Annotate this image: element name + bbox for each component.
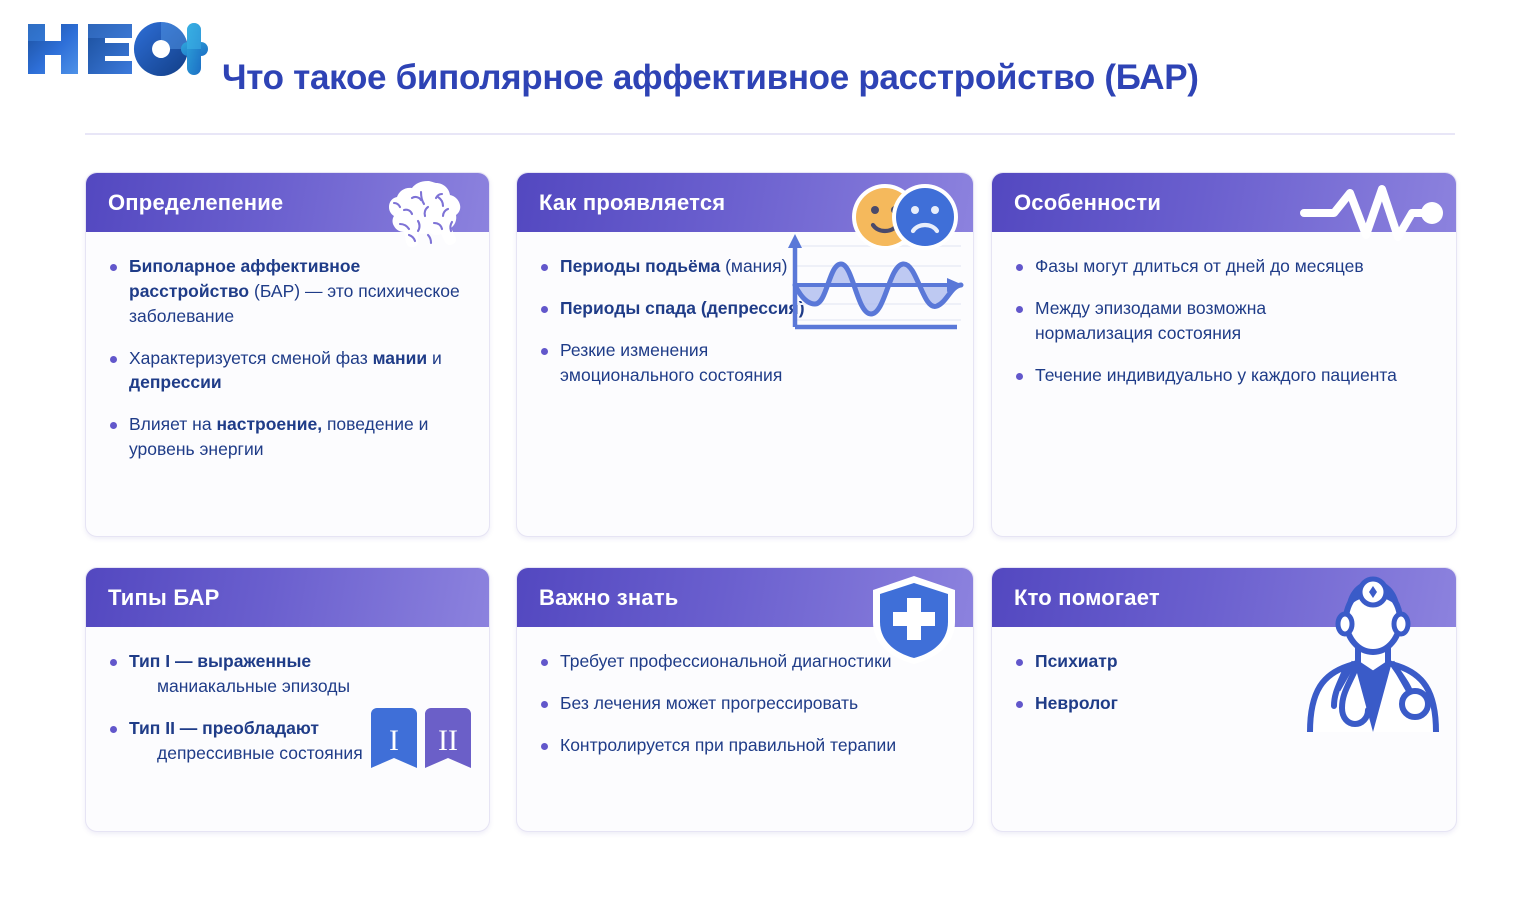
bullet-subtext: маниакальные эпизоды [129,674,469,699]
card-title: Особенности [1014,190,1161,216]
bullet-text: Влияет на [129,414,216,434]
card-manifestation[interactable]: Как проявляется [516,172,974,537]
list-item: Между эпизодами возможна нормализация со… [1014,296,1314,346]
bullet-strong: настроение, [216,414,322,434]
card-header: Определепение [86,173,489,232]
card-header: Особенности [992,173,1456,232]
bullet-strong: Психиатр [1035,651,1118,671]
list-item: Фазы могут длиться от дней до месяцев [1014,254,1436,279]
bullet-text: Течение индивидуально у каждого пациента [1035,365,1397,385]
list-item: Контролируется при правильной терапии [539,733,953,758]
card-title: Важно знать [539,585,679,611]
card-header: Кто помогает [992,568,1456,627]
card-body: Фазы могут длиться от дней до месяцев Ме… [992,232,1456,414]
list-item: Без лечения может прогрессировать [539,691,953,716]
mood-wave-chart [777,232,965,336]
list-item: Влияет на настроение, поведение и уровен… [108,412,469,462]
bullet-strong-2: депрессии [129,372,222,392]
bullet-strong: мании [373,348,428,368]
bullet-strong: Невролог [1035,693,1118,713]
list-item: Требует профессиональной диагностики [539,649,953,674]
bullet-text: Контролируется при правильной терапии [560,735,896,755]
bullet-list: Фазы могут длиться от дней до месяцев Ме… [1014,254,1436,387]
list-item: Биполарное аффективное расстройство (БАР… [108,254,469,329]
bullet-strong: Периоды подьёма [560,256,720,276]
svg-text:II: II [438,724,458,757]
header-divider [85,133,1455,135]
card-body: Биполарное аффективное расстройство (БАР… [86,232,489,489]
card-features[interactable]: Особенности Фазы могут длиться от дней д… [991,172,1457,537]
card-types[interactable]: Типы БАР Тип I — выраженные маниакальные… [85,567,490,832]
card-definition[interactable]: Определепение [85,172,490,537]
bullet-text: Характеризуется сменой фаз [129,348,373,368]
list-item: Психиатр [1014,649,1436,674]
bullet-text: Без лечения может прогрессировать [560,693,858,713]
card-body: Периоды подьёма (мания) Периоды спада (д… [517,232,973,414]
cards-grid: Определепение [85,172,1457,832]
card-who-helps[interactable]: Кто помогает [991,567,1457,832]
card-title: Как проявляется [539,190,725,216]
card-header: Как проявляется [517,173,973,232]
list-item: Невролог [1014,691,1436,716]
svg-text:I: I [389,724,399,757]
card-body: Требует профессиональной диагностики Без… [517,627,973,785]
bullet-list: Психиатр Невролог [1014,649,1436,716]
type-badges-icon: I II [367,708,475,778]
card-body: Тип I — выраженные маниакальные эпизоды … [86,627,489,792]
list-item: Течение индивидуально у каждого пациента [1014,363,1436,388]
bullet-text-2: и [427,348,442,368]
bullet-text: Фазы могут длиться от дней до месяцев [1035,256,1364,276]
page-title: Что такое биполярное аффективное расстро… [222,58,1199,98]
bullet-strong: Тип I — выраженные [129,651,311,671]
card-header: Важно знать [517,568,973,627]
list-item: Тип I — выраженные маниакальные эпизоды [108,649,469,699]
card-header: Типы БАР [86,568,489,627]
bullet-text: Резкие изменения эмоционального состояни… [560,340,782,385]
bullet-strong: Тип II — преобладают [129,718,319,738]
card-title: Определепение [108,190,283,216]
list-item: Резкие изменения эмоционального состояни… [539,338,789,388]
card-body: Психиатр Невролог [992,627,1456,743]
bullet-text: Требует профессиональной диагностики [560,651,892,671]
card-title: Кто помогает [1014,585,1160,611]
bullet-list: Биполарное аффективное расстройство (БАР… [108,254,469,462]
bullet-text: Между эпизодами возможна нормализация со… [1035,298,1266,343]
bullet-strong: Периоды спада (депрессия) [560,298,805,318]
neo-plus-logo [22,18,212,80]
list-item: Характеризуется сменой фаз мании и депре… [108,346,469,396]
bullet-list: Требует профессиональной диагностики Без… [539,649,953,758]
card-important[interactable]: Важно знать Требует профессиональной диа… [516,567,974,832]
infographic-page: Что такое биполярное аффективное расстро… [0,0,1536,922]
card-title: Типы БАР [108,585,219,611]
